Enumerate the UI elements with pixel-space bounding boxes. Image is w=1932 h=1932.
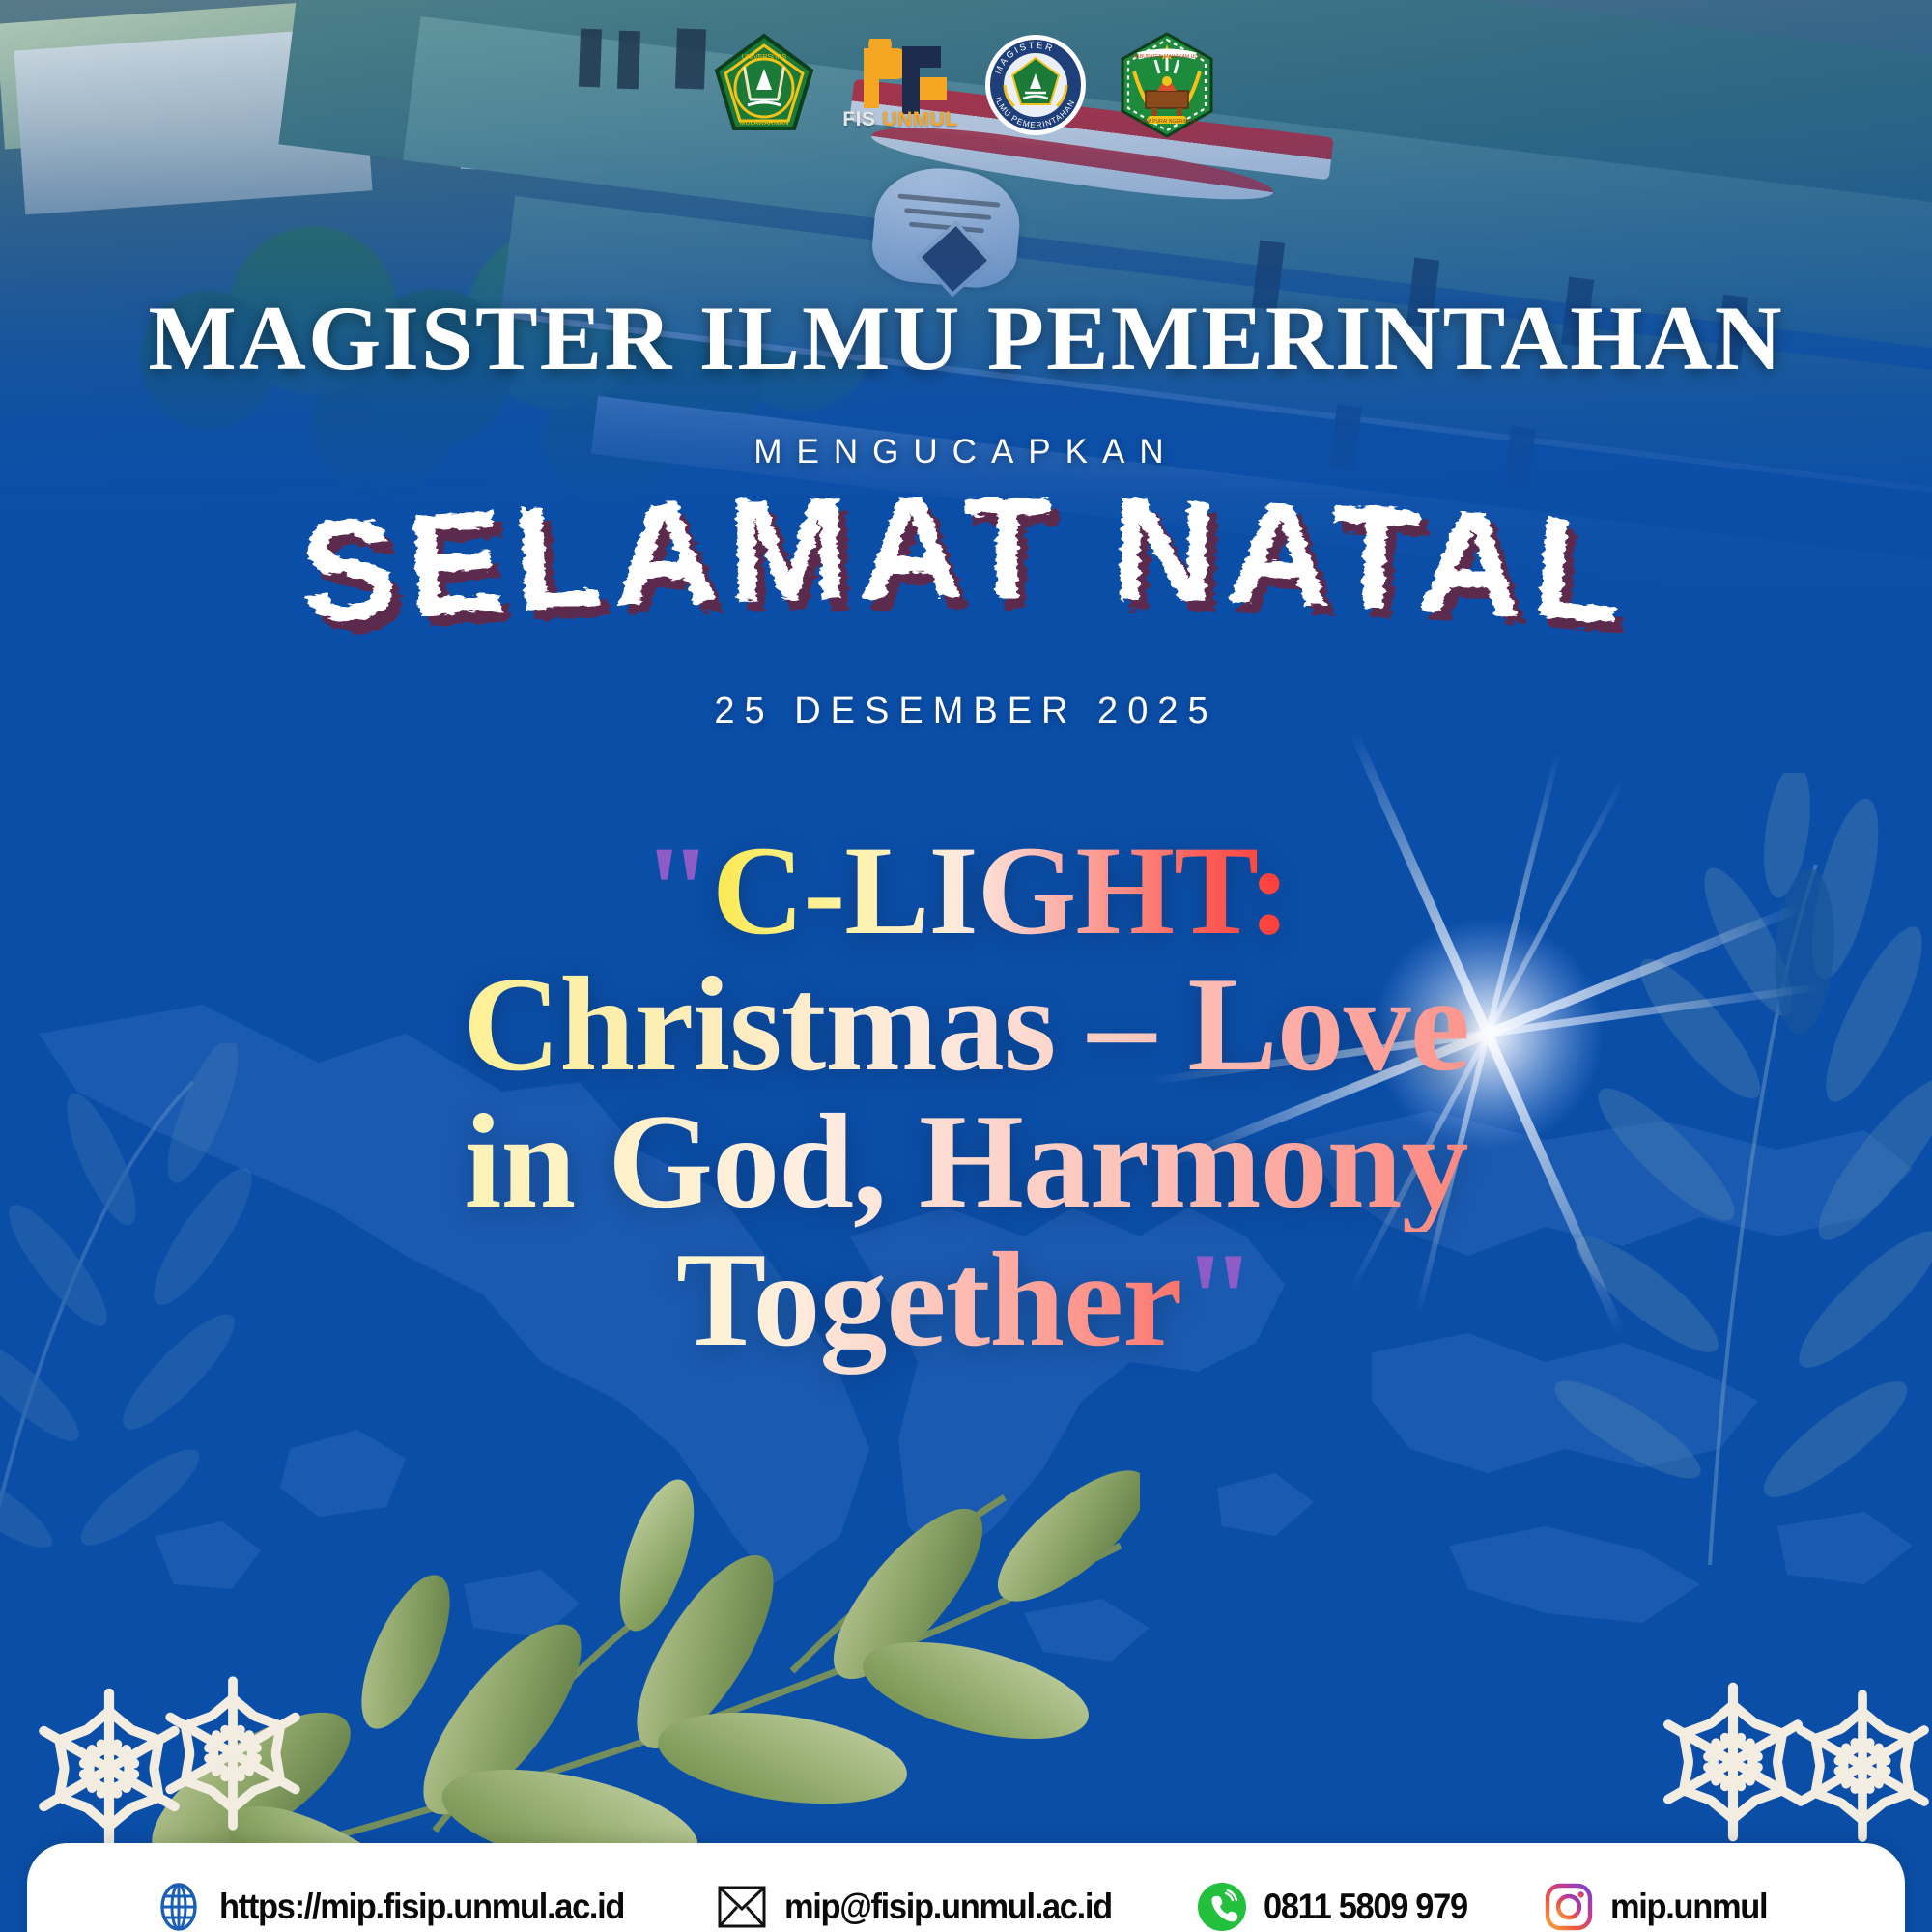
snowflake-icon bbox=[147, 1667, 319, 1839]
unmul-label: UNMUL bbox=[882, 108, 957, 131]
svg-text:TANA PURAI NGERIMAN: TANA PURAI NGERIMAN bbox=[1139, 119, 1195, 125]
footer-instagram[interactable]: mip.unmul bbox=[1543, 1881, 1778, 1932]
christmas-greeting-poster: UNIVERSITAS MULAWARMAN FIS UNMUL bbox=[0, 0, 1932, 1932]
footer-email-text: mip@fisip.unmul.ac.id bbox=[784, 1887, 1112, 1927]
envelope-icon bbox=[715, 1882, 769, 1932]
snowflake-icon bbox=[1777, 1681, 1932, 1851]
instagram-icon bbox=[1543, 1881, 1595, 1932]
theme-line-1-text: C-LIGHT: bbox=[712, 819, 1290, 961]
unmul-emblem: UNIVERSITAS MULAWARMAN bbox=[711, 32, 817, 138]
theme-line-2: Christmas – Love bbox=[0, 956, 1932, 1094]
globe-icon bbox=[154, 1882, 204, 1932]
theme-line-4: Together" bbox=[0, 1232, 1932, 1370]
greeting-label: MENGUCAPKAN bbox=[0, 433, 1932, 471]
footer-website-text: https://mip.fisip.unmul.ac.id bbox=[219, 1887, 624, 1927]
footer-whatsapp[interactable]: 0811 5809 979 bbox=[1196, 1881, 1483, 1932]
logo-row: UNIVERSITAS MULAWARMAN FIS UNMUL bbox=[0, 27, 1932, 143]
theme-quote: "C-LIGHT: Christmas – Love in God, Harmo… bbox=[0, 826, 1932, 1370]
svg-text:MULAWARMAN: MULAWARMAN bbox=[740, 120, 789, 127]
open-quote-mark: " bbox=[642, 819, 712, 961]
theme-line-1: "C-LIGHT: bbox=[0, 826, 1932, 956]
theme-line-4-text: Together bbox=[676, 1225, 1181, 1375]
footer-email[interactable]: mip@fisip.unmul.ac.id bbox=[715, 1882, 1136, 1932]
svg-text:UNIVERSITAS: UNIVERSITAS bbox=[742, 54, 786, 61]
fisip-label: FIS bbox=[842, 108, 875, 131]
footer-website[interactable]: https://mip.fisip.unmul.ac.id bbox=[154, 1882, 655, 1932]
theme-line-3: in God, Harmony bbox=[0, 1094, 1932, 1232]
program-title: MAGISTER ILMU PEMERINTAHAN bbox=[0, 285, 1932, 391]
footer-contact-bar: https://mip.fisip.unmul.ac.id mip@fisip.… bbox=[27, 1843, 1905, 1932]
whatsapp-icon bbox=[1196, 1881, 1248, 1932]
kabupaten-mahakam-ulu-emblem: KABUPATEN MAHAKAM ULU TANA PURAI NGERIMA… bbox=[1113, 31, 1221, 139]
event-date: 25 DESEMBER 2025 bbox=[0, 691, 1932, 732]
svg-text:KABUPATEN MAHAKAM ULU: KABUPATEN MAHAKAM ULU bbox=[1133, 54, 1201, 60]
close-quote-mark: " bbox=[1181, 1225, 1256, 1375]
magister-ilmu-pemerintahan-emblem: MAGISTER ILMU PEMERINTAHAN bbox=[983, 33, 1088, 137]
footer-whatsapp-text: 0811 5809 979 bbox=[1264, 1887, 1467, 1927]
fisip-unmul-logo: FIS UNMUL bbox=[842, 39, 958, 131]
footer-instagram-text: mip.unmul bbox=[1610, 1887, 1767, 1927]
selamat-natal-headline: SELAMAT NATAL SELAMAT NATAL bbox=[0, 497, 1932, 671]
